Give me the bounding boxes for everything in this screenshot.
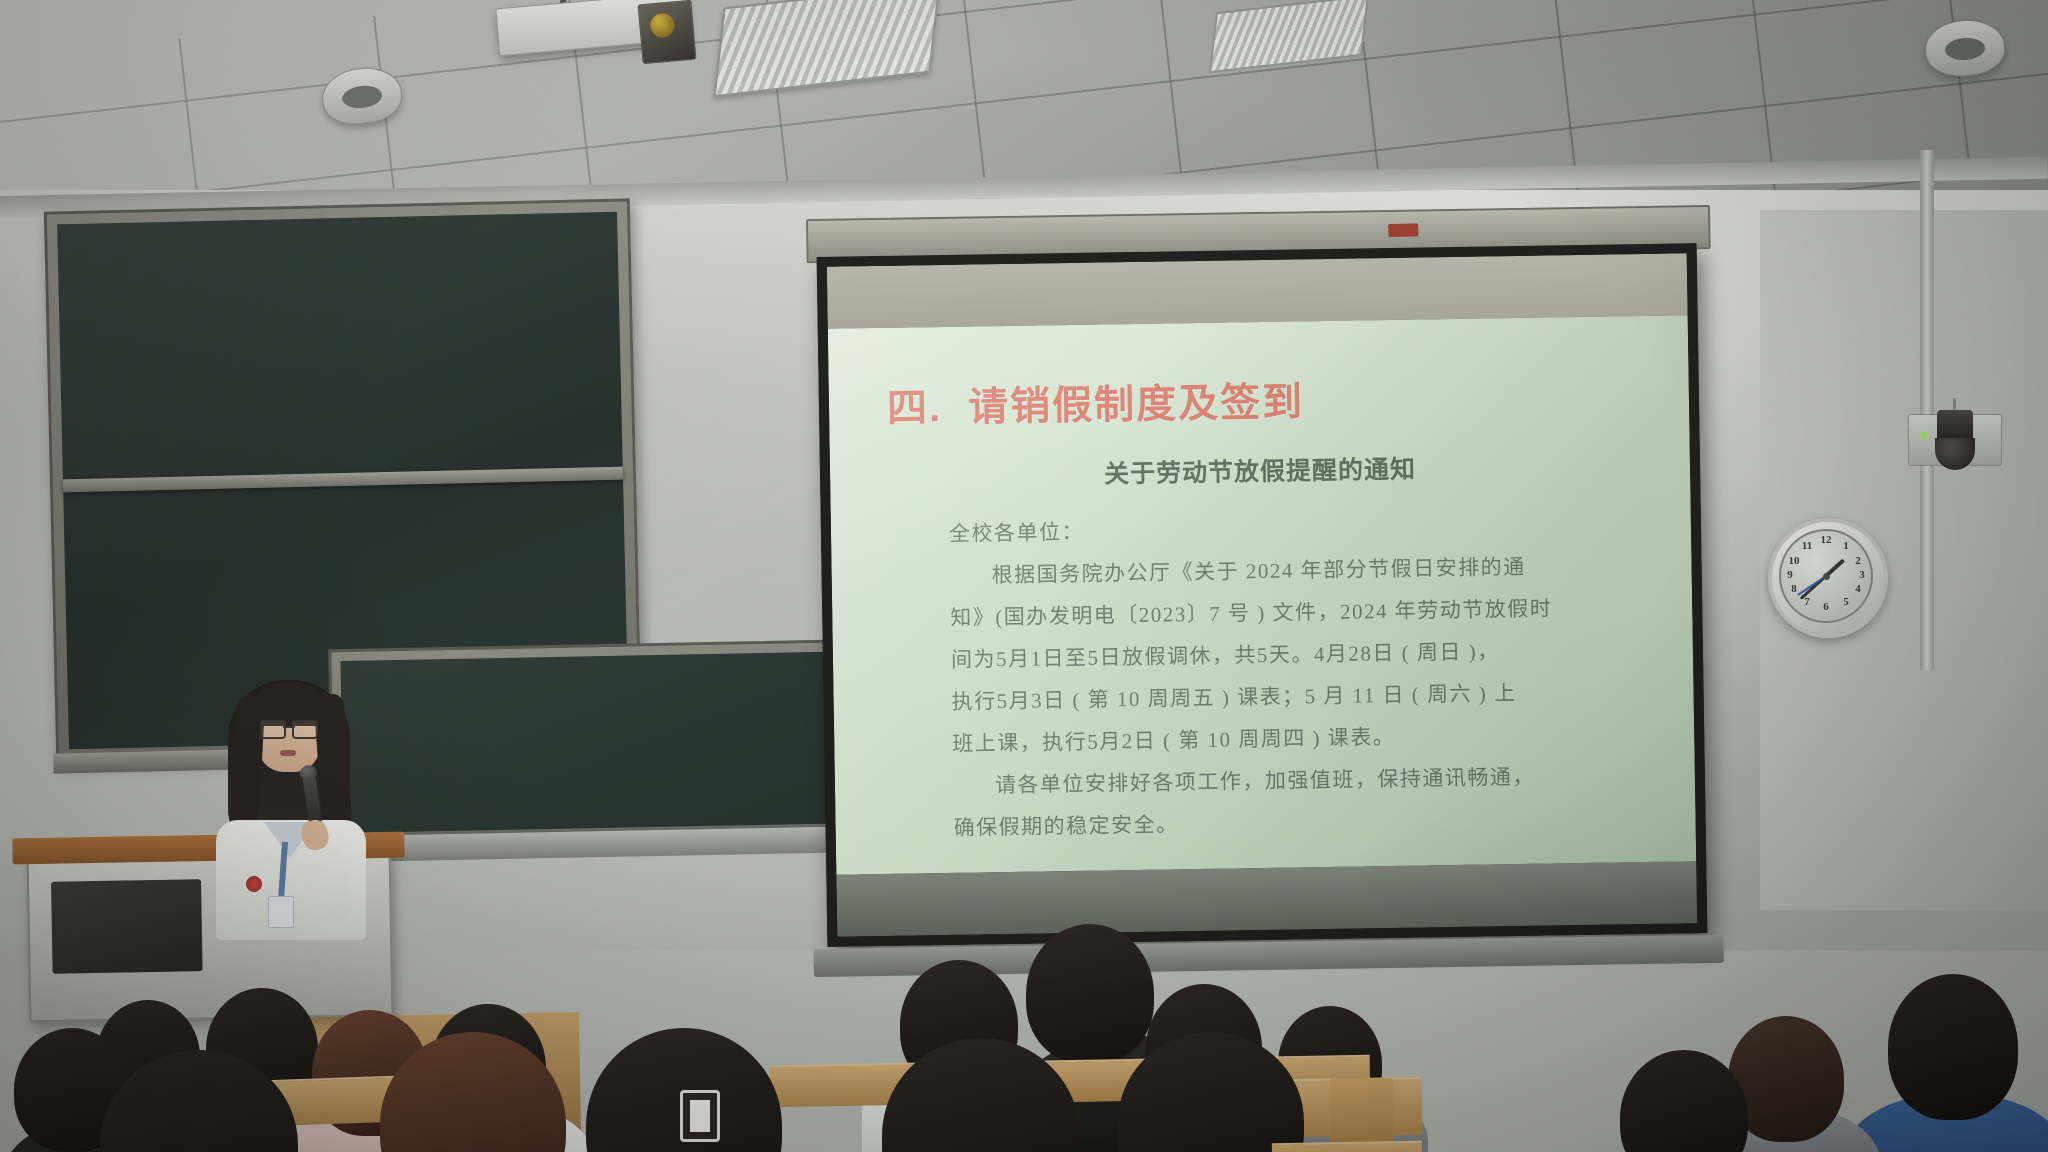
clock-numeral: 12 (1819, 534, 1833, 546)
chair-back (1330, 1078, 1394, 1148)
projector-lens-icon (637, 0, 696, 64)
student-head (1888, 974, 2018, 1120)
clock-numeral: 10 (1787, 555, 1801, 567)
student-head (1026, 924, 1154, 1064)
clock-numeral: 11 (1800, 540, 1814, 552)
wall-clock: 12 1 2 3 4 5 6 7 8 9 10 11 (1768, 518, 1888, 638)
clock-numeral: 5 (1839, 596, 1853, 608)
clock-numeral: 4 (1851, 583, 1865, 595)
wall-camera (1908, 410, 2000, 474)
clock-numeral: 6 (1819, 601, 1833, 613)
audience (0, 760, 2048, 1152)
presenter-glasses-icon (260, 720, 318, 736)
screen-housing-marker (1388, 224, 1418, 237)
clock-center-pin (1823, 573, 1830, 580)
clock-numeral: 3 (1855, 569, 1869, 581)
classroom-photo: 12 1 2 3 4 5 6 7 8 9 10 11 (0, 0, 2048, 1152)
presenter-mouth (280, 750, 296, 756)
clock-second-hand (1797, 575, 1826, 596)
clock-numeral: 2 (1851, 555, 1865, 567)
clock-face: 12 1 2 3 4 5 6 7 8 9 10 11 (1779, 529, 1873, 623)
hair-clip (680, 1090, 720, 1142)
desk-row (1272, 1141, 1422, 1152)
clock-numeral: 9 (1783, 569, 1797, 581)
wall-camera-led (1920, 432, 1927, 439)
clock-numeral: 1 (1839, 540, 1853, 552)
